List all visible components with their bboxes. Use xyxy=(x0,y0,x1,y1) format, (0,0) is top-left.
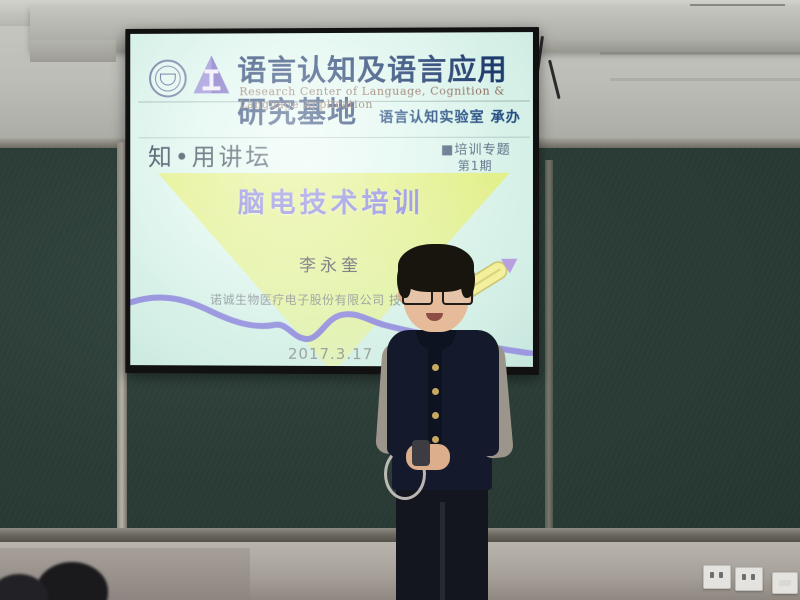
lecture-hall-scene: 语言认知及语言应用研究基地 Research Center of Languag… xyxy=(0,0,800,600)
valance-end-cap xyxy=(30,40,116,62)
presenter-hair-left xyxy=(397,264,411,298)
forum-label: 知•用讲坛 xyxy=(148,137,272,172)
presenter-leg-gap xyxy=(440,502,445,600)
pyramid-logo-icon xyxy=(192,53,232,97)
ceiling-seam-3 xyxy=(610,78,800,81)
socket-hole xyxy=(742,574,746,580)
series-issue-label: 第1期 xyxy=(458,157,493,174)
wall-switch-1[interactable] xyxy=(772,572,798,594)
socket-hole xyxy=(751,574,755,580)
slide-main-title: 脑电技术培训 xyxy=(130,181,533,220)
ceiling-seam-2 xyxy=(600,52,800,55)
organizer-label: 语言认知实验室 承办 xyxy=(379,107,521,127)
socket-hole xyxy=(710,572,714,578)
jacket-button xyxy=(432,412,439,419)
socket-hole xyxy=(719,572,723,578)
wall-socket-2[interactable] xyxy=(735,567,763,591)
series-label: ■培训专题 xyxy=(441,139,511,158)
presenter-person xyxy=(370,238,520,600)
university-seal-icon xyxy=(149,60,187,98)
chalkboard-divider-right xyxy=(545,160,553,540)
jacket-button xyxy=(432,388,439,395)
jacket-button xyxy=(432,364,439,371)
switch-rocker xyxy=(779,580,791,586)
presenter-remote[interactable] xyxy=(412,440,430,466)
jacket-button xyxy=(432,436,439,443)
wall-socket-1[interactable] xyxy=(703,565,731,589)
